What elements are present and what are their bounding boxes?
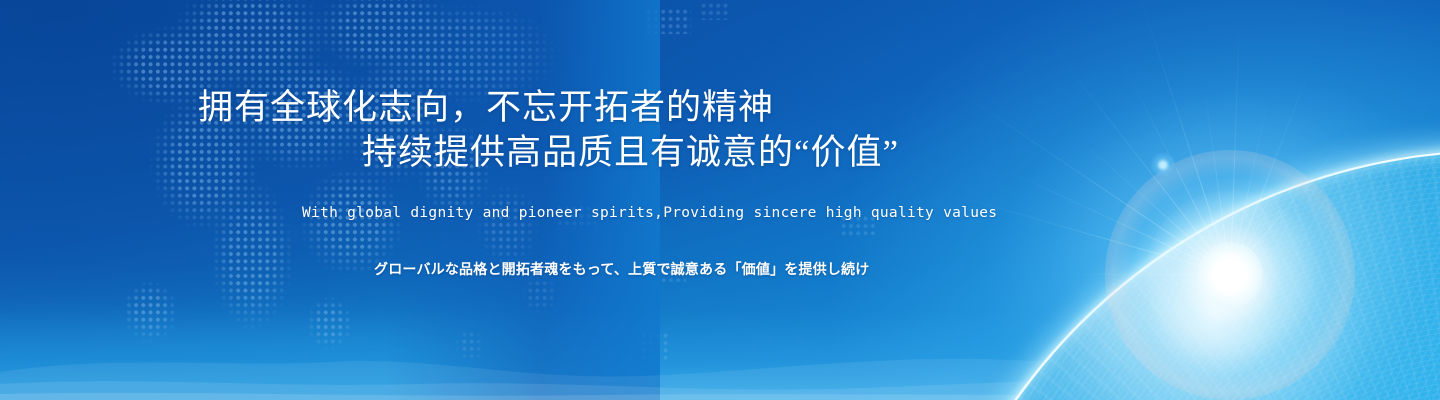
dotted-world-map-icon bbox=[0, 0, 620, 394]
planet-surface-texture bbox=[906, 150, 1440, 400]
hero-banner: 拥有全球化志向，不忘开拓者的精神 持续提供高品质且有诚意的“价值” With g… bbox=[0, 0, 1440, 400]
planet-surface bbox=[906, 150, 1440, 400]
dotted-map-fragment bbox=[660, 262, 686, 282]
dotted-map-fragment bbox=[700, 2, 730, 20]
dotted-map-fragment bbox=[556, 205, 596, 229]
planet-earth-limb-icon bbox=[840, 0, 1440, 400]
dotted-map-fragment bbox=[640, 332, 670, 362]
dotted-map-fragment bbox=[645, 8, 691, 34]
